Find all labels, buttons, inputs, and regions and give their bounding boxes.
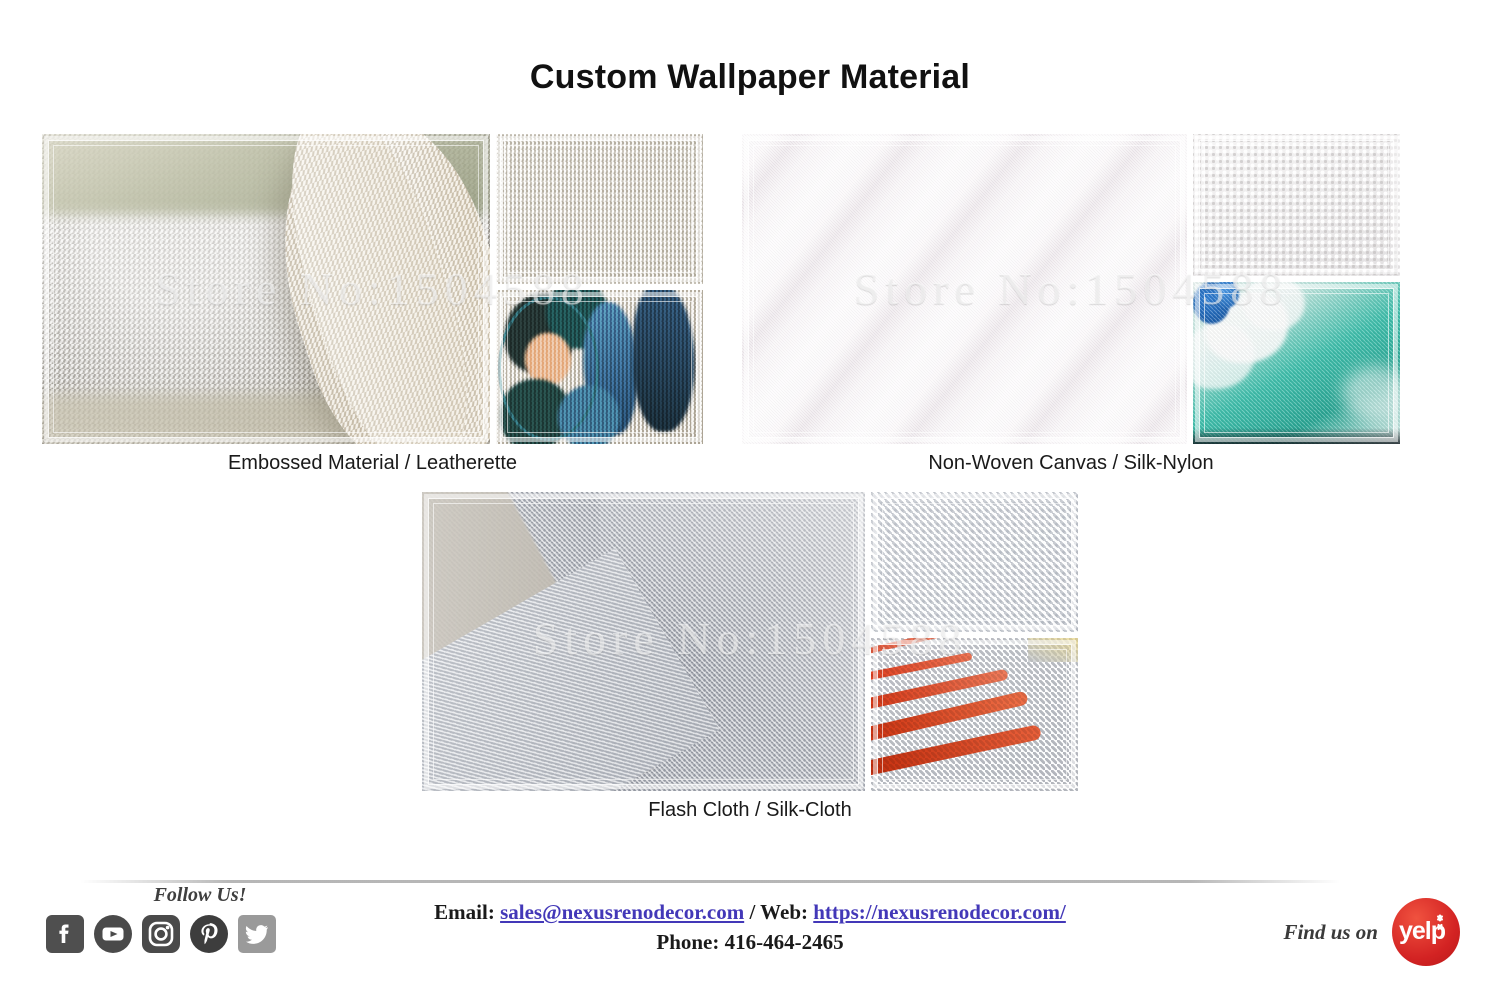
teal-floral-texture bbox=[1193, 282, 1400, 444]
find-us-on-yelp-block[interactable]: Find us on yelp bbox=[1283, 898, 1460, 966]
detail-photo-teal-floral[interactable] bbox=[1193, 282, 1400, 444]
photo-cluster: Store No:1504588 bbox=[42, 134, 703, 444]
footer-divider bbox=[80, 880, 1340, 883]
detail-photo-woven-mesh[interactable] bbox=[871, 492, 1078, 632]
email-label: Email: bbox=[434, 900, 495, 924]
photo-cluster: Store No:1504588 bbox=[742, 134, 1400, 444]
flash-cloth-texture bbox=[422, 492, 865, 791]
white-silk-texture bbox=[742, 134, 1187, 444]
twitter-icon[interactable] bbox=[238, 915, 276, 953]
photo-cluster: Store No:1504588 bbox=[422, 492, 1078, 791]
fabric-sheen bbox=[599, 492, 865, 791]
printed-floral-texture bbox=[496, 290, 703, 444]
detail-photo-stucco[interactable] bbox=[496, 134, 703, 284]
poster-canvas: Custom Wallpaper Material bbox=[0, 0, 1500, 1000]
embossed-texture bbox=[42, 134, 490, 444]
detail-photo-non-woven[interactable] bbox=[1193, 134, 1400, 276]
non-woven-texture bbox=[1193, 134, 1400, 276]
contact-separator: / bbox=[749, 900, 755, 924]
instagram-icon[interactable] bbox=[142, 915, 180, 953]
detail-photo-red-printed[interactable] bbox=[871, 638, 1078, 791]
phone-line: Phone: 416-464-2465 bbox=[370, 928, 1130, 958]
email-link[interactable]: sales@nexusrenodecor.com bbox=[500, 900, 744, 924]
follow-us-label: Follow Us! bbox=[100, 884, 300, 907]
social-icon-row bbox=[46, 915, 342, 953]
stucco-texture bbox=[496, 134, 703, 284]
caption-flash-cloth: Flash Cloth / Silk-Cloth bbox=[422, 799, 1078, 822]
youtube-icon[interactable] bbox=[94, 915, 132, 953]
red-printed-texture bbox=[871, 638, 1078, 791]
woven-mesh-texture bbox=[871, 492, 1078, 632]
pinterest-icon[interactable] bbox=[190, 915, 228, 953]
follow-us-block: Follow Us! bbox=[42, 884, 342, 953]
contact-line-1: Email: sales@nexusrenodecor.com / Web: h… bbox=[370, 898, 1130, 928]
main-photo-flash-cloth[interactable] bbox=[422, 492, 865, 791]
contact-block: Email: sales@nexusrenodecor.com / Web: h… bbox=[370, 898, 1130, 958]
web-label: Web: bbox=[760, 900, 808, 924]
detail-photo-printed-floral[interactable] bbox=[496, 290, 703, 444]
facebook-icon[interactable] bbox=[46, 915, 84, 953]
material-group-non-woven: Store No:1504588 Non-Woven Canvas / Silk… bbox=[742, 134, 1400, 444]
caption-embossed: Embossed Material / Leatherette bbox=[42, 452, 703, 475]
yelp-burst-icon bbox=[1430, 914, 1450, 934]
material-group-flash-cloth: Store No:1504588 Flash Cloth / Silk-Clot… bbox=[422, 492, 1078, 791]
main-photo-embossed-roll[interactable] bbox=[42, 134, 490, 444]
material-group-embossed: Store No:1504588 Embossed Material / Lea… bbox=[42, 134, 703, 444]
page-title: Custom Wallpaper Material bbox=[0, 58, 1500, 97]
find-us-label: Find us on bbox=[1283, 920, 1378, 945]
website-link[interactable]: https://nexusrenodecor.com/ bbox=[813, 900, 1066, 924]
caption-non-woven: Non-Woven Canvas / Silk-Nylon bbox=[742, 452, 1400, 475]
main-photo-white-silk[interactable] bbox=[742, 134, 1187, 444]
yelp-logo[interactable]: yelp bbox=[1392, 898, 1460, 966]
